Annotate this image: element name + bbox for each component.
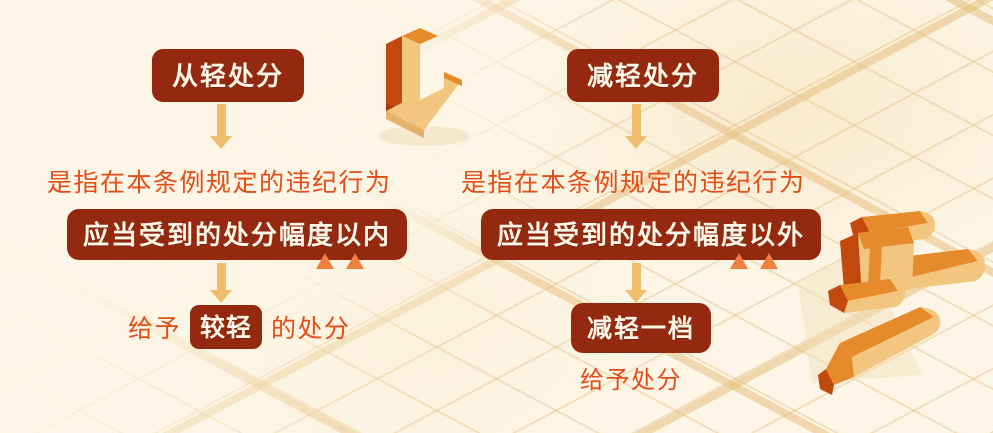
left-arrow-title-to-definition: [210, 104, 232, 149]
triangle-marker-icon: [730, 253, 748, 269]
down-arrow-3d-icon: [358, 8, 488, 148]
gavel-icon: [792, 185, 992, 395]
left-result-highlight-badge: 较轻: [190, 305, 262, 349]
right-definition-text: 是指在本条例规定的违纪行为: [461, 163, 806, 199]
triangle-marker-icon: [316, 253, 334, 269]
right-arrow-title-to-definition: [625, 104, 647, 149]
right-arrow-scope-to-result: [625, 263, 647, 303]
right-title-badge: 减轻处分: [567, 49, 719, 102]
left-result-prefix: 给予: [128, 309, 181, 345]
triangle-marker-icon: [346, 253, 364, 269]
right-result-pill: 减轻一档: [571, 303, 711, 353]
left-result-suffix: 的处分: [271, 309, 351, 345]
left-result-row: 给予 较轻 的处分: [128, 305, 351, 349]
right-triangle-pair-marker: [730, 253, 778, 269]
left-triangle-pair-marker: [316, 253, 364, 269]
left-arrow-scope-to-result: [210, 263, 232, 303]
right-result-caption: 给予处分: [580, 360, 682, 395]
left-title-badge: 从轻处分: [152, 49, 304, 102]
left-definition-text: 是指在本条例规定的违纪行为: [47, 163, 392, 199]
triangle-marker-icon: [760, 253, 778, 269]
infographic-canvas: 从轻处分 是指在本条例规定的违纪行为 应当受到的处分幅度以内 给予 较轻 的处分…: [0, 0, 993, 433]
